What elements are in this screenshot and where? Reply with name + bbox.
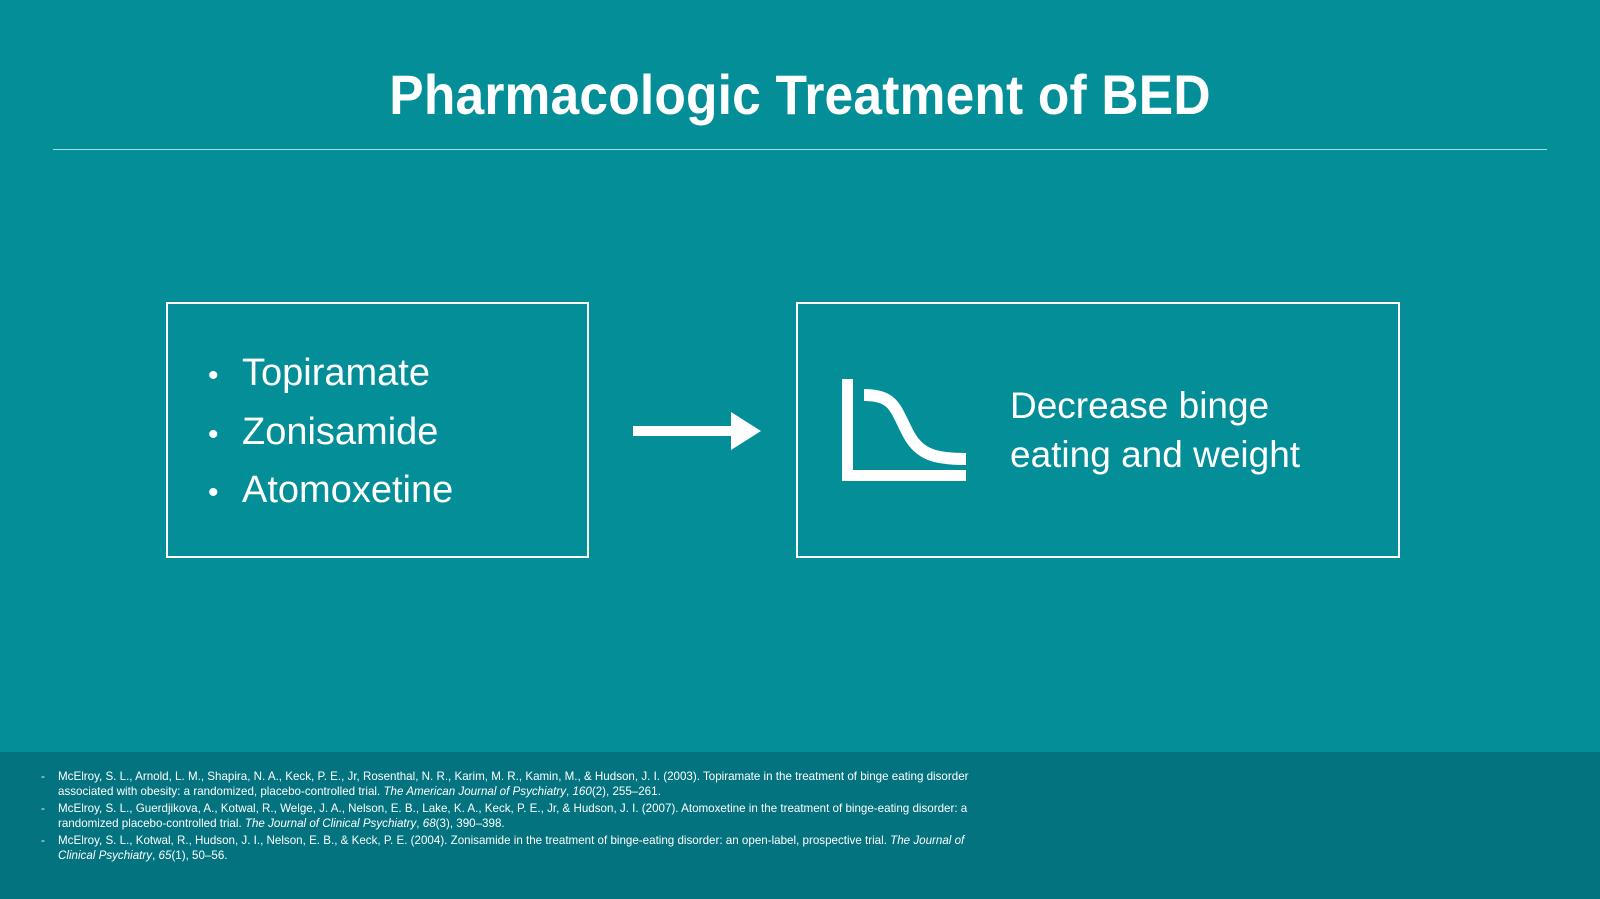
reference-dash: - [41, 769, 58, 800]
outcome-box: Decrease binge eating and weight [796, 302, 1400, 558]
bullet-icon: • [208, 478, 242, 508]
medication-label: Zonisamide [242, 403, 438, 462]
title-divider [53, 149, 1547, 150]
right-arrow-icon [633, 408, 761, 454]
reference-text: McElroy, S. L., Arnold, L. M., Shapira, … [58, 769, 991, 800]
reference-item: - McElroy, S. L., Arnold, L. M., Shapira… [41, 769, 991, 800]
outcome-label: Decrease binge eating and weight [1010, 381, 1300, 479]
medication-label: Atomoxetine [242, 461, 453, 520]
references-list: - McElroy, S. L., Arnold, L. M., Shapira… [41, 769, 991, 864]
reference-text: McElroy, S. L., Kotwal, R., Hudson, J. I… [58, 833, 991, 864]
reference-item: - McElroy, S. L., Guerdjikova, A., Kotwa… [41, 801, 991, 832]
page-title: Pharmacologic Treatment of BED [64, 64, 1536, 126]
bullet-icon: • [208, 361, 242, 391]
reference-dash: - [41, 801, 58, 832]
slide: Pharmacologic Treatment of BED • Topiram… [0, 0, 1600, 899]
declining-line-chart-icon [840, 379, 966, 481]
list-item: • Topiramate [208, 344, 453, 403]
list-item: • Zonisamide [208, 403, 453, 462]
reference-dash: - [41, 833, 58, 864]
bullet-icon: • [208, 420, 242, 450]
medication-list-box: • Topiramate • Zonisamide • Atomoxetine [166, 302, 589, 558]
reference-item: - McElroy, S. L., Kotwal, R., Hudson, J.… [41, 833, 991, 864]
medication-label: Topiramate [242, 344, 430, 403]
reference-text: McElroy, S. L., Guerdjikova, A., Kotwal,… [58, 801, 991, 832]
footer-bar: - McElroy, S. L., Arnold, L. M., Shapira… [0, 752, 1600, 899]
medication-list: • Topiramate • Zonisamide • Atomoxetine [208, 344, 453, 520]
list-item: • Atomoxetine [208, 461, 453, 520]
